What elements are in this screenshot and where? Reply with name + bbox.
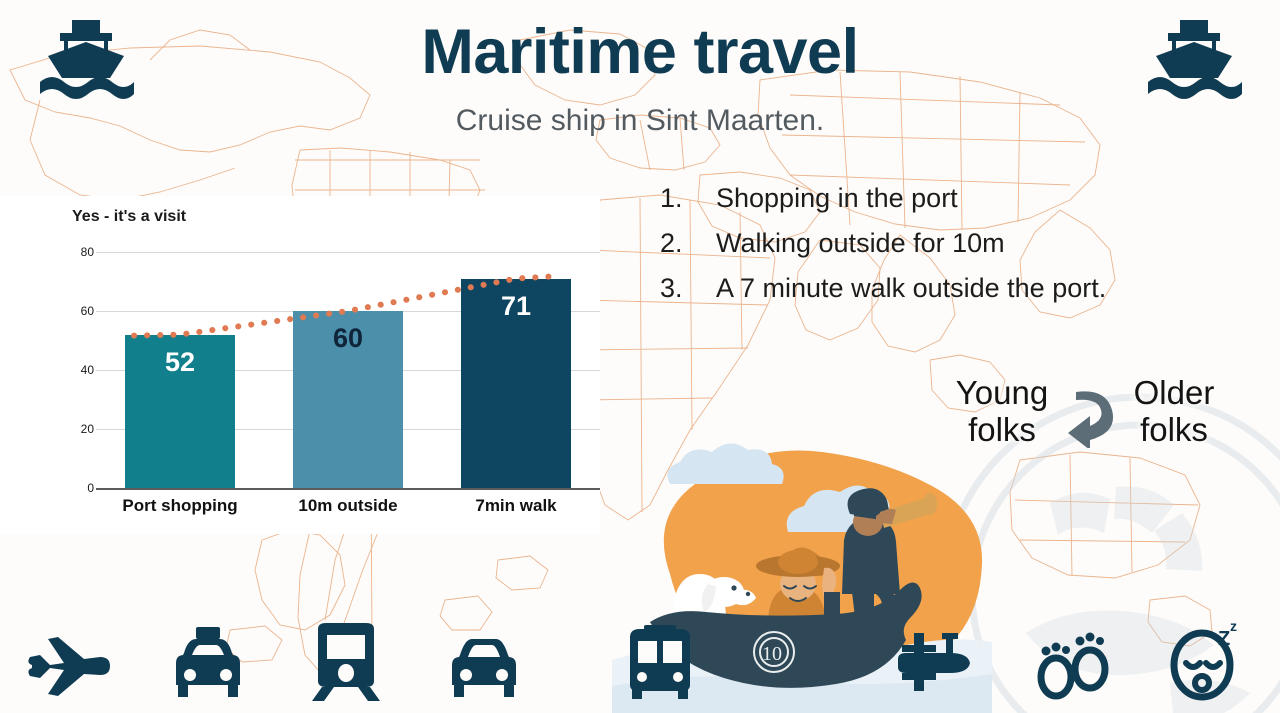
chart-y-tick-label: 80 bbox=[48, 245, 94, 259]
chart-y-tick-label: 0 bbox=[48, 481, 94, 495]
chart-title: Yes - it's a visit bbox=[72, 208, 186, 226]
chart-y-tick-label: 60 bbox=[48, 304, 94, 318]
propeller-plane-icon bbox=[890, 619, 982, 705]
young-folks-label: Young folks bbox=[943, 375, 1061, 449]
list-item: 2. Walking outside for 10m bbox=[660, 228, 1240, 259]
list-item-label: Walking outside for 10m bbox=[716, 228, 1005, 259]
older-folks-line1: Older bbox=[1118, 375, 1230, 412]
chart-y-tick-label: 40 bbox=[48, 363, 94, 377]
chart-bar: 52 bbox=[125, 335, 235, 488]
train-icon bbox=[300, 619, 392, 705]
transport-icon-row: Z z bbox=[0, 613, 1280, 705]
footprints-icon bbox=[1028, 619, 1120, 705]
chart-bar: 71 bbox=[461, 279, 571, 488]
bus-icon bbox=[614, 619, 706, 705]
chart-bar: 60 bbox=[293, 311, 403, 488]
chart-y-tick-label: 20 bbox=[48, 422, 94, 436]
chart-x-tick-label: 7min walk bbox=[432, 496, 600, 516]
taxi-icon bbox=[162, 619, 254, 705]
svg-text:Z: Z bbox=[1218, 628, 1230, 650]
young-folks-line1: Young bbox=[943, 375, 1061, 412]
list-item-number: 2. bbox=[660, 228, 716, 259]
chart-bar-value-label: 60 bbox=[293, 325, 403, 352]
bar-chart-panel: Yes - it's a visit 020406080526071 Port … bbox=[0, 196, 600, 534]
list-item-label: Shopping in the port bbox=[716, 183, 958, 214]
older-folks-label: Older folks bbox=[1118, 375, 1230, 449]
numbered-list: 1. Shopping in the port 2. Walking outsi… bbox=[660, 183, 1240, 318]
chart-bar-value-label: 52 bbox=[125, 349, 235, 376]
list-item: 1. Shopping in the port bbox=[660, 183, 1240, 214]
car-icon bbox=[438, 619, 530, 705]
page-subtitle: Cruise ship in Sint Maarten. bbox=[0, 104, 1280, 138]
chart-gridline bbox=[96, 252, 600, 253]
chart-plot-area: 020406080526071 bbox=[96, 252, 600, 488]
older-folks-line2: folks bbox=[1118, 412, 1230, 449]
chart-x-tick-label: 10m outside bbox=[264, 496, 432, 516]
airplane-icon bbox=[24, 619, 116, 705]
curved-arrow-left-icon bbox=[1060, 382, 1126, 448]
list-item: 3. A 7 minute walk outside the port. bbox=[660, 273, 1240, 304]
chart-gridline bbox=[96, 488, 600, 490]
svg-text:z: z bbox=[1230, 619, 1237, 634]
page-title: Maritime travel bbox=[0, 16, 1280, 88]
chart-x-tick-label: Port shopping bbox=[96, 496, 264, 516]
list-item-number: 3. bbox=[660, 273, 716, 304]
slide-root: Maritime travel Cruise ship in Sint Maar… bbox=[0, 0, 1280, 713]
list-item-label: A 7 minute walk outside the port. bbox=[716, 273, 1106, 304]
young-folks-line2: folks bbox=[943, 412, 1061, 449]
chart-bar-value-label: 71 bbox=[461, 293, 571, 320]
sleeping-face-icon: Z z bbox=[1160, 619, 1252, 705]
list-item-number: 1. bbox=[660, 183, 716, 214]
